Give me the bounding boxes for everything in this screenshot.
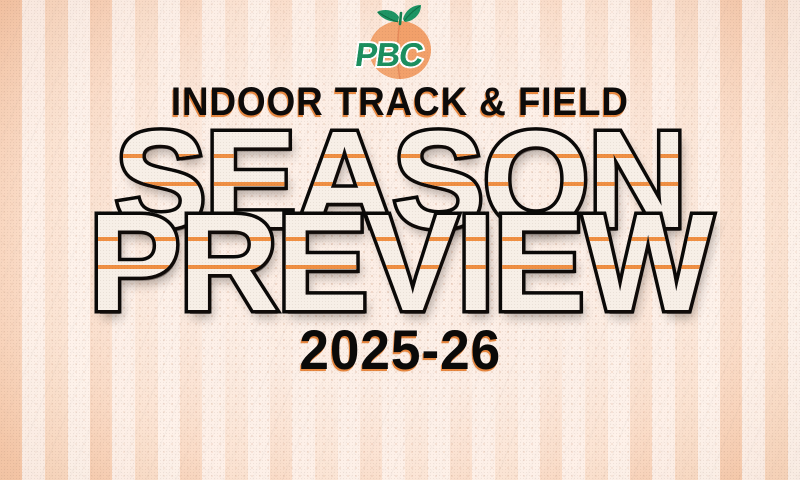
title-preview-text: PREVIEW <box>89 207 711 320</box>
poster-content: PBC PBC INDOOR TRACK & FIELD SEASON SEAS… <box>0 0 800 480</box>
pbc-wordmark: PBC PBC <box>353 37 426 74</box>
title-line-preview: PREVIEW PREVIEW <box>89 207 711 320</box>
season-preview-poster: PBC PBC INDOOR TRACK & FIELD SEASON SEAS… <box>0 0 800 480</box>
pbc-logo: PBC PBC <box>345 4 455 84</box>
svg-text:PBC: PBC <box>353 37 426 74</box>
season-year: 2025-26 <box>299 322 501 378</box>
peach-icon: PBC PBC <box>345 4 455 84</box>
